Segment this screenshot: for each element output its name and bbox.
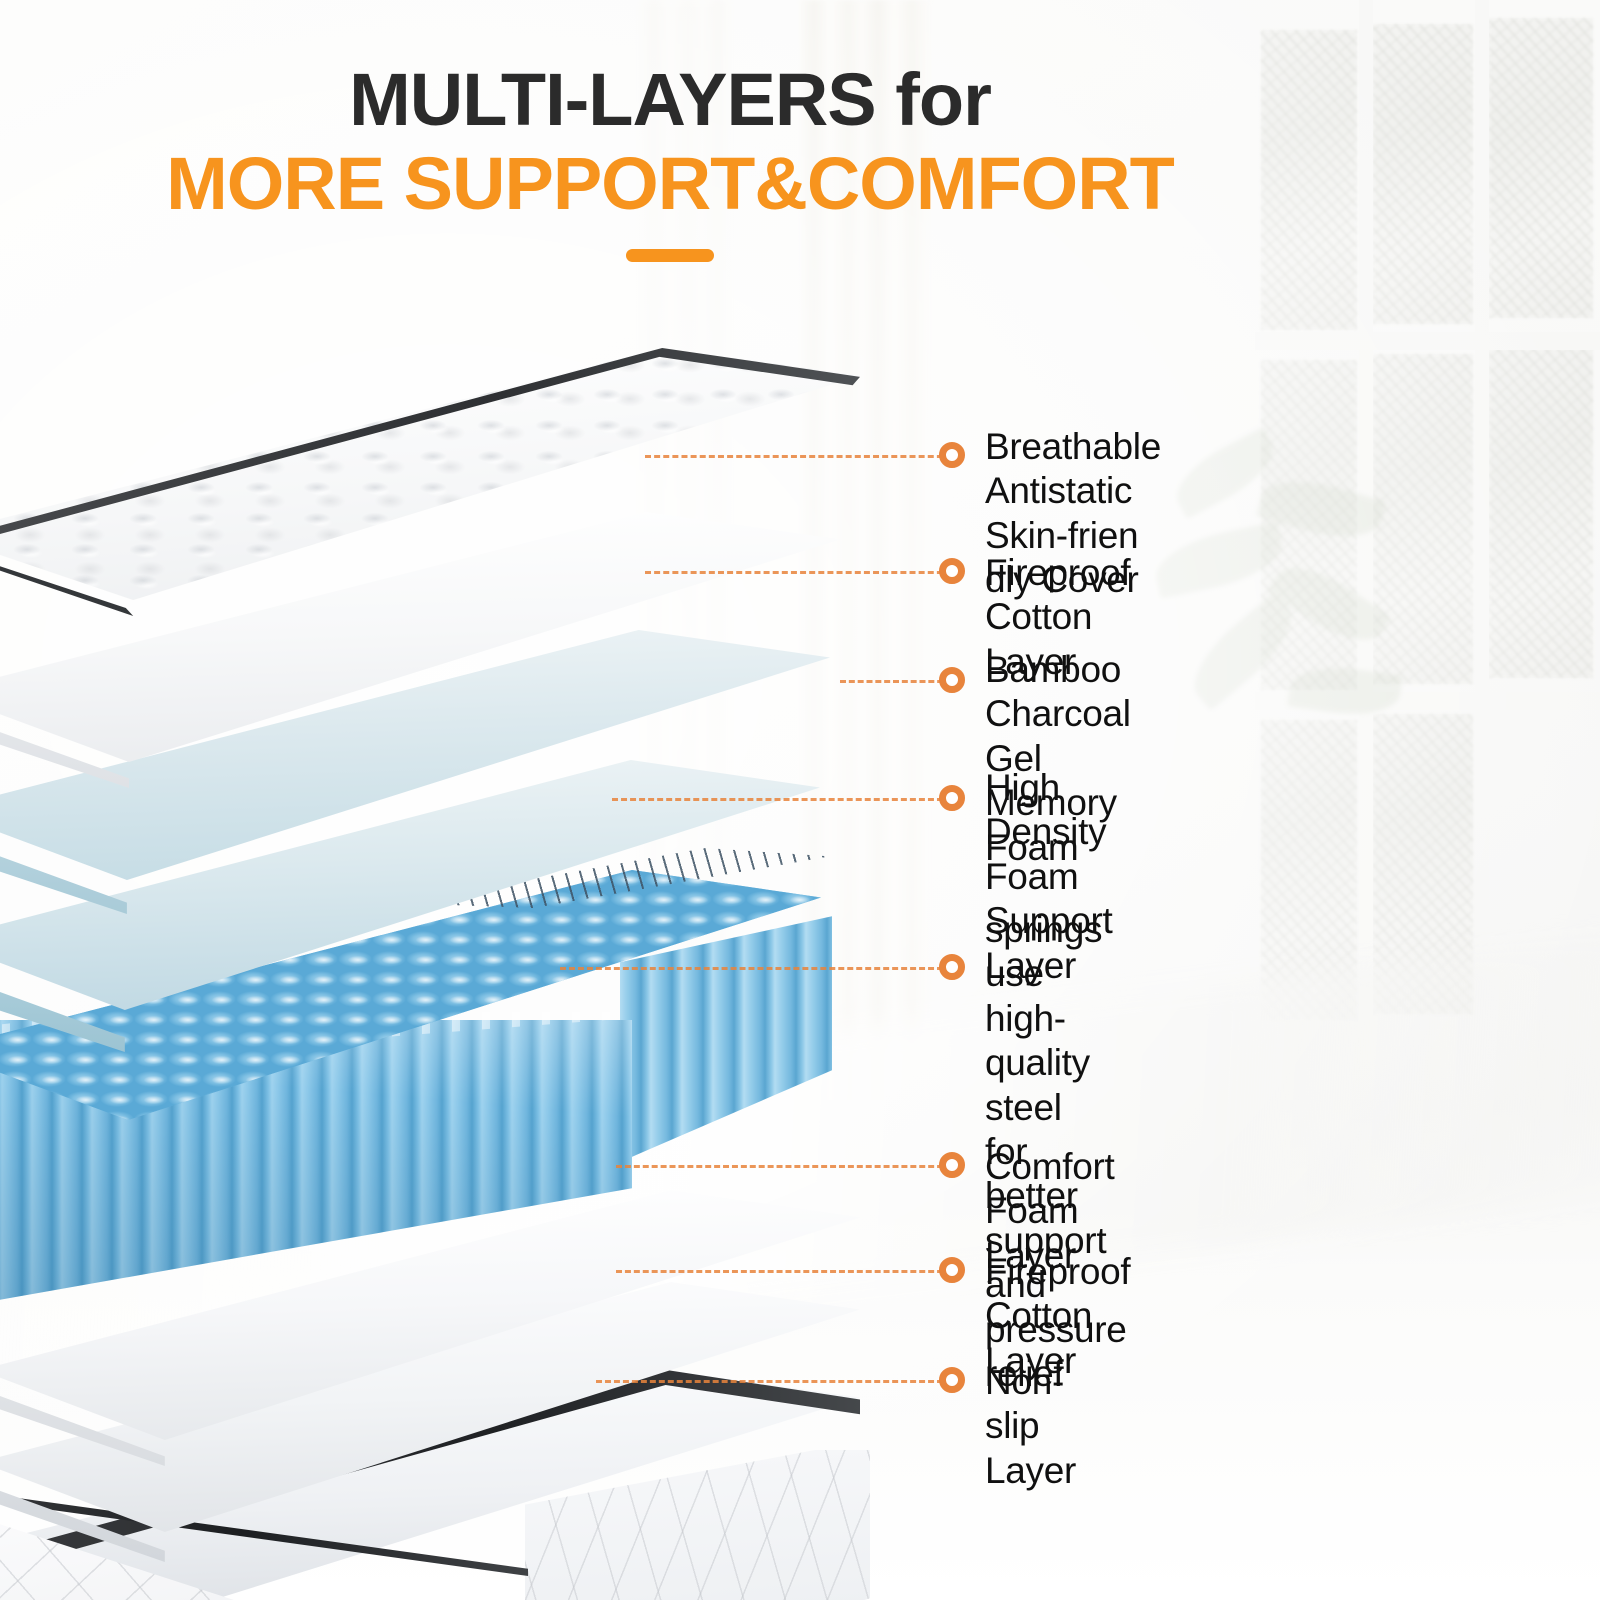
callout-label-line: Breathable Antistatic Skin-frien bbox=[985, 425, 1161, 558]
callout-leader-line-fireproof-cotton-top bbox=[645, 571, 952, 574]
callout-marker-fireproof-cotton-bottom[interactable] bbox=[939, 1257, 965, 1283]
callout-leader-line-pocket-springs bbox=[560, 967, 952, 970]
callout-leader-line-bamboo-charcoal-gel-memory-foam bbox=[840, 680, 952, 683]
callout-leader-line-non-slip bbox=[596, 1380, 952, 1383]
callout-marker-pocket-springs[interactable] bbox=[939, 954, 965, 980]
callout-list: Breathable Antistatic Skin-friendly Cove… bbox=[0, 0, 1600, 1600]
callout-marker-comfort-foam[interactable] bbox=[939, 1152, 965, 1178]
callout-marker-cover[interactable] bbox=[939, 442, 965, 468]
callout-leader-line-fireproof-cotton-bottom bbox=[616, 1270, 952, 1273]
callout-label-line: High Density Foam bbox=[985, 766, 1113, 899]
callout-label-non-slip: Non-slip Layer bbox=[985, 1360, 1076, 1493]
callout-leader-line-comfort-foam bbox=[616, 1165, 952, 1168]
callout-leader-line-cover bbox=[645, 455, 952, 458]
callout-label-line: Non-slip Layer bbox=[985, 1360, 1076, 1493]
callout-label-line: Bamboo Charcoal Gel bbox=[985, 648, 1131, 781]
callout-marker-fireproof-cotton-top[interactable] bbox=[939, 558, 965, 584]
callout-marker-high-density-foam-support[interactable] bbox=[939, 785, 965, 811]
callout-label-line: springs use high-quality steel bbox=[985, 908, 1127, 1130]
callout-marker-non-slip[interactable] bbox=[939, 1367, 965, 1393]
infographic-stage: MULTI-LAYERS for MORE SUPPORT&COMFORT bbox=[0, 0, 1600, 1600]
callout-leader-line-high-density-foam-support bbox=[612, 798, 952, 801]
callout-marker-bamboo-charcoal-gel-memory-foam[interactable] bbox=[939, 667, 965, 693]
